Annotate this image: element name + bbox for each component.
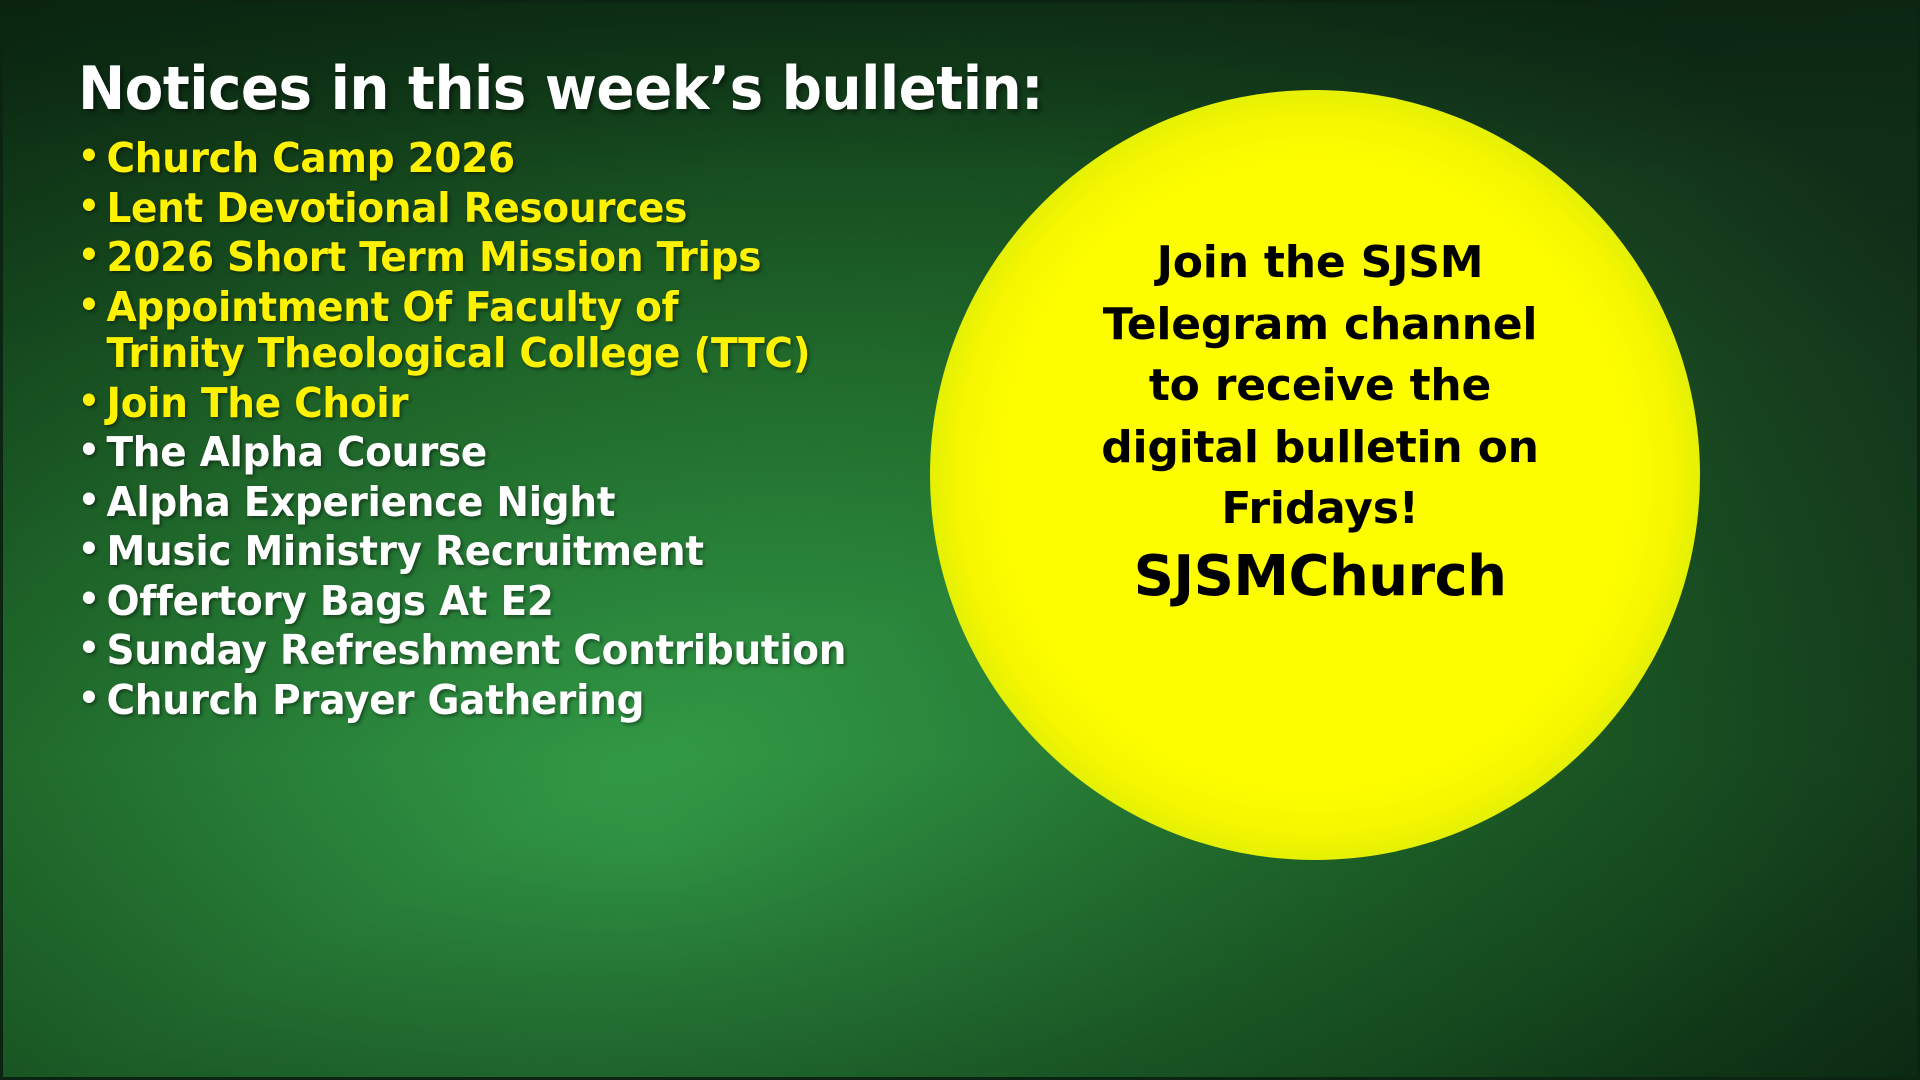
- list-item: •Offertory Bags At E2: [78, 578, 971, 625]
- list-item: •Sunday Refreshment Contribution: [78, 627, 971, 674]
- bullet-icon: •: [78, 429, 107, 474]
- list-item: •Appointment Of Faculty ofTrinity Theolo…: [78, 284, 971, 377]
- page-title: Notices in this week’s bulletin:: [78, 58, 962, 121]
- notice-label-continued: Trinity Theological College (TTC): [107, 330, 972, 377]
- notice-label: The Alpha Course: [107, 429, 972, 476]
- promo-line: Telegram channel: [1055, 294, 1585, 356]
- bullet-icon: •: [78, 135, 107, 180]
- list-item: •Church Prayer Gathering: [78, 677, 971, 724]
- list-item: •Alpha Experience Night: [78, 479, 971, 526]
- bullet-icon: •: [78, 479, 107, 524]
- notice-label: Join The Choir: [107, 380, 972, 427]
- bullet-icon: •: [78, 627, 107, 672]
- notice-label: Sunday Refreshment Contribution: [107, 627, 972, 674]
- notice-label: Appointment Of Faculty ofTrinity Theolog…: [107, 284, 972, 377]
- notice-label: Church Prayer Gathering: [107, 677, 972, 724]
- bullet-icon: •: [78, 380, 107, 425]
- promo-line: Fridays!: [1055, 478, 1585, 540]
- bullet-icon: •: [78, 677, 107, 722]
- list-item: •Join The Choir: [78, 380, 971, 427]
- bulletin-slide: Notices in this week’s bulletin: •Church…: [0, 0, 1920, 1080]
- telegram-promo-panel: Join the SJSMTelegram channelto receive …: [1055, 232, 1585, 610]
- notice-label: Alpha Experience Night: [107, 479, 972, 526]
- notice-label: Church Camp 2026: [107, 135, 972, 182]
- list-item: •The Alpha Course: [78, 429, 971, 476]
- notices-list: •Church Camp 2026•Lent Devotional Resour…: [78, 135, 1018, 723]
- list-item: •2026 Short Term Mission Trips: [78, 234, 971, 281]
- telegram-channel-handle: SJSMChurch: [1055, 544, 1585, 610]
- bullet-icon: •: [78, 234, 107, 279]
- bullet-icon: •: [78, 528, 107, 573]
- promo-line: digital bulletin on: [1055, 417, 1585, 479]
- notice-label: 2026 Short Term Mission Trips: [107, 234, 972, 281]
- promo-line: to receive the: [1055, 355, 1585, 417]
- bullet-icon: •: [78, 578, 107, 623]
- notices-panel: Notices in this week’s bulletin: •Church…: [78, 58, 1018, 726]
- list-item: •Music Ministry Recruitment: [78, 528, 971, 575]
- bullet-icon: •: [78, 284, 107, 329]
- promo-line: Join the SJSM: [1055, 232, 1585, 294]
- notice-label: Music Ministry Recruitment: [107, 528, 972, 575]
- bullet-icon: •: [78, 185, 107, 230]
- notice-label: Offertory Bags At E2: [107, 578, 972, 625]
- telegram-promo-text: Join the SJSMTelegram channelto receive …: [1055, 232, 1585, 540]
- notice-label: Lent Devotional Resources: [107, 185, 972, 232]
- list-item: •Church Camp 2026: [78, 135, 971, 182]
- list-item: •Lent Devotional Resources: [78, 185, 971, 232]
